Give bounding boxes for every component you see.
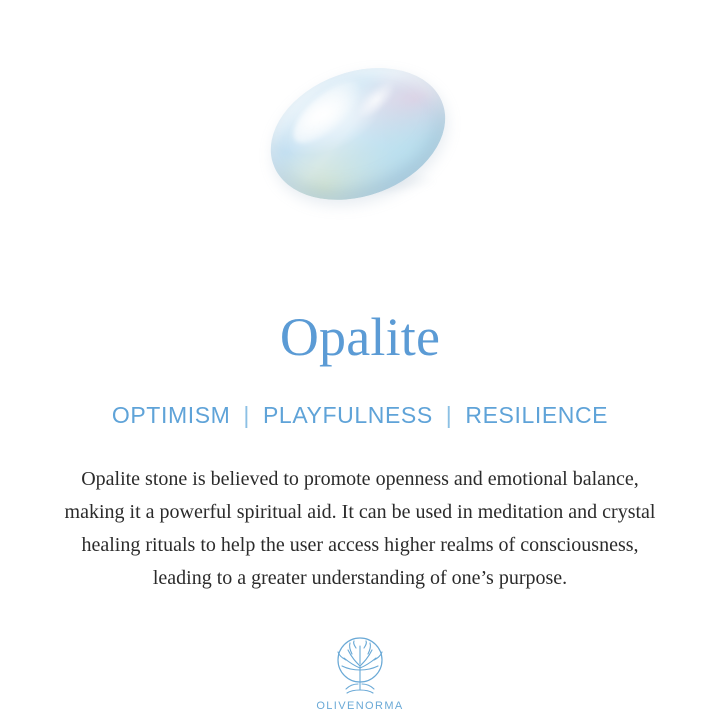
page-title: Opalite [280,310,440,364]
stone-body [252,45,464,223]
stone-highlight-primary [284,72,369,153]
keyword-2: PLAYFULNESS [263,402,433,429]
keyword-separator-2: | [446,402,453,429]
description-line: healing rituals to help the user access … [30,529,690,562]
keyword-3: RESILIENCE [465,402,608,429]
description-line: leading to a greater understanding of on… [30,562,690,595]
brand-name: OLIVENORMA [316,700,403,712]
description-line: making it a powerful spiritual aid. It c… [30,496,690,529]
description-line: Opalite stone is believed to promote ope… [30,463,690,496]
product-description: Opalite stone is believed to promote ope… [30,463,690,595]
product-card: Opalite OPTIMISM | PLAYFULNESS | RESILIE… [0,0,720,720]
opalite-stone-image [268,72,448,196]
brand-footer: OLIVENORMA [0,636,720,712]
keyword-list: OPTIMISM | PLAYFULNESS | RESILIENCE [112,402,608,429]
stone-image-area [0,0,720,270]
tree-of-life-icon [322,636,398,698]
keyword-separator-1: | [243,402,250,429]
stone-highlight-secondary [353,76,400,122]
keyword-1: OPTIMISM [112,402,231,429]
